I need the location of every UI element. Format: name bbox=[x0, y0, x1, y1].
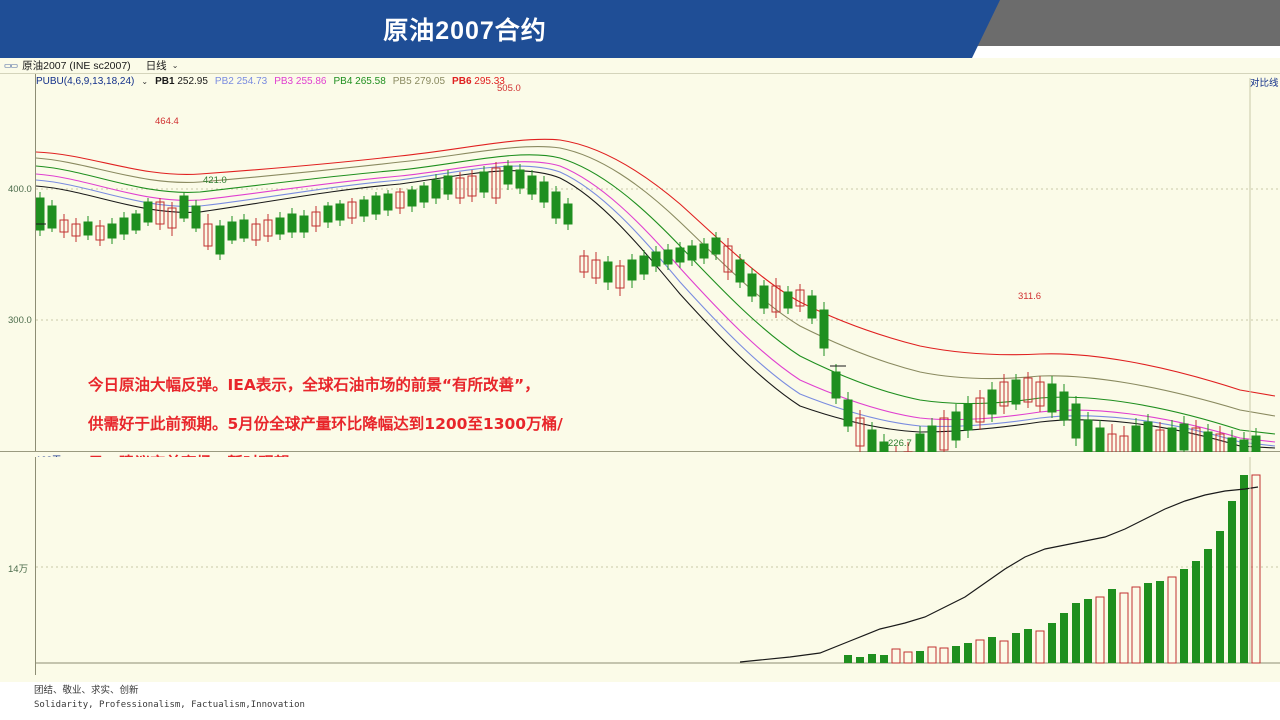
pb2-label: PB2 bbox=[215, 76, 234, 87]
volume-pane[interactable]: 14万 bbox=[0, 457, 1280, 675]
page-title: 原油2007合约 bbox=[0, 0, 930, 58]
instrument-toolbar[interactable]: ▭▭ 原油2007 (INE sc2007) 日线 ⌄ bbox=[0, 58, 1280, 74]
price-point-label-311: 311.6 bbox=[1018, 291, 1041, 302]
pb3-value: 255.86 bbox=[296, 76, 327, 87]
pb2-value: 254.73 bbox=[237, 76, 268, 87]
chart-area[interactable]: PUBU(4,6,9,13,18,24) ⌄ PB1 252.95 PB2 25… bbox=[0, 74, 1280, 682]
annotation-line-1: 今日原油大幅反弹。IEA表示，全球石油市场的前景“有所改善”， bbox=[88, 366, 788, 405]
pb5-value: 279.05 bbox=[414, 76, 445, 87]
compare-line-tag[interactable]: 对比线 bbox=[1250, 75, 1280, 89]
price-pane[interactable]: PUBU(4,6,9,13,18,24) ⌄ PB1 252.95 PB2 25… bbox=[0, 74, 1280, 452]
price-indicator-legend[interactable]: PUBU(4,6,9,13,18,24) ⌄ PB1 252.95 PB2 25… bbox=[36, 75, 505, 88]
pb4-label: PB4 bbox=[333, 76, 352, 87]
title-banner: 原油2007合约 bbox=[0, 0, 1280, 58]
footer-slogan-cn: 团结、敬业、求实、创新 bbox=[34, 684, 305, 698]
chevron-down-icon[interactable]: ⌄ bbox=[172, 61, 179, 70]
volume-axis-line bbox=[35, 457, 36, 675]
price-point-label-226: 226.7 bbox=[888, 438, 912, 449]
pb1-label: PB1 bbox=[155, 76, 174, 87]
pb5-label: PB5 bbox=[393, 76, 412, 87]
footer-slogan: 团结、敬业、求实、创新 Solidarity, Professionalism,… bbox=[34, 684, 305, 712]
footer-slogan-en: Solidarity, Professionalism, Factualism,… bbox=[34, 698, 305, 712]
pb4-value: 265.58 bbox=[355, 76, 386, 87]
pb1-value: 252.95 bbox=[177, 76, 208, 87]
pb3-label: PB3 bbox=[274, 76, 293, 87]
annotation-line-2: 供需好于此前预期。5月份全球产量环比降幅达到1200至1300万桶/ bbox=[88, 405, 788, 444]
chevron-down-icon[interactable]: ⌄ bbox=[141, 77, 148, 86]
kline-icon: ▭▭ bbox=[4, 61, 17, 70]
instrument-name[interactable]: 原油2007 (INE sc2007) bbox=[22, 58, 131, 73]
price-ytick-300: 300.0 bbox=[8, 315, 32, 326]
volume-ytick-14w: 14万 bbox=[8, 561, 28, 575]
indicator-name[interactable]: PUBU(4,6,9,13,18,24) bbox=[36, 76, 134, 87]
price-axis-line bbox=[35, 74, 36, 451]
volume-chart-svg[interactable] bbox=[0, 457, 1280, 675]
price-point-label-464: 464.4 bbox=[155, 116, 179, 127]
price-point-label-505: 505.0 bbox=[497, 83, 521, 94]
pb6-label: PB6 bbox=[452, 76, 471, 87]
price-ytick-400: 400.0 bbox=[8, 184, 32, 195]
screenshot-root: 原油2007合约 ▭▭ 原油2007 (INE sc2007) 日线 ⌄ PUB… bbox=[0, 0, 1280, 720]
price-point-label-421: 421.0 bbox=[203, 175, 227, 186]
period-selector[interactable]: 日线 bbox=[146, 58, 167, 73]
